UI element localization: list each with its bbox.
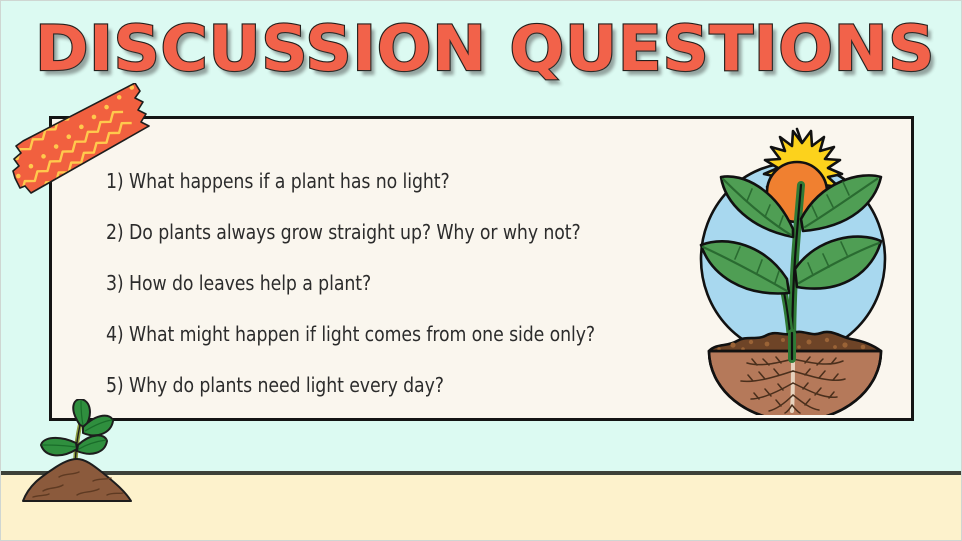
list-item: 5) Why do plants need light every day?: [106, 360, 632, 411]
list-item: 2) Do plants always grow straight up? Wh…: [106, 207, 632, 258]
questions-list: 1) What happens if a plant has no light?…: [106, 156, 666, 411]
slide-canvas: DISCUSSION QUESTIONS 1) What happens if …: [0, 0, 962, 541]
bottom-color-band: [1, 475, 961, 540]
page-title: DISCUSSION QUESTIONS: [35, 13, 680, 85]
list-item: 1) What happens if a plant has no light?: [106, 156, 632, 207]
sprouting-seedling-icon: [19, 399, 139, 504]
list-item: 4) What might happen if light comes from…: [106, 309, 632, 360]
plant-with-sun-and-roots-icon: [693, 119, 898, 415]
list-item: 3) How do leaves help a plant?: [106, 258, 632, 309]
